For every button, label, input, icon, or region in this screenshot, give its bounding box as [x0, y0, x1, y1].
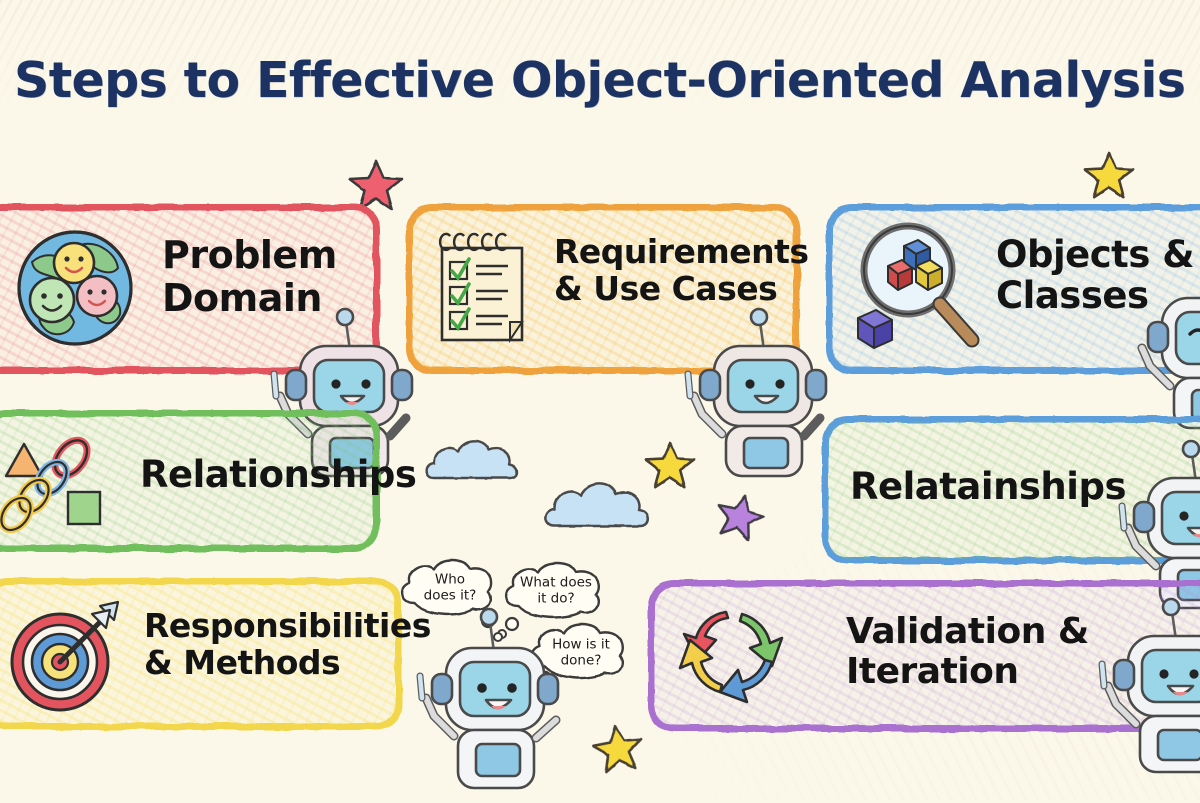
robot-mascot-6 — [1098, 598, 1200, 788]
chain-links-shapes-icon — [0, 436, 120, 536]
star-purple-mid-icon — [710, 487, 770, 546]
thought-bubble-text: What does it do? — [500, 575, 612, 606]
card-responsibilities-methods[interactable]: Responsibilities & Methods — [0, 578, 402, 730]
magnifier-with-cubes-icon — [850, 218, 980, 358]
star-yellow-topright-icon — [1083, 150, 1135, 200]
infographic-canvas: Steps to Effective Object-Oriented Analy… — [0, 0, 1200, 800]
robot-mascot-2 — [660, 292, 820, 472]
page-title: Steps to Effective Object-Oriented Analy… — [14, 52, 1200, 109]
cloud-left-icon — [422, 432, 532, 484]
robot-mascot-5 — [418, 608, 588, 803]
card-label: Responsibilities & Methods — [144, 608, 414, 682]
circular-arrows-cycle-icon — [676, 600, 796, 715]
thought-bubble-text: Who does it? — [396, 572, 504, 603]
card-label: Relatainships — [850, 466, 1150, 507]
target-with-arrow-icon — [4, 600, 124, 715]
star-yellow-bottom-icon — [589, 720, 647, 777]
card-label: Relationships — [140, 454, 400, 495]
card-relationships[interactable]: Relationships — [0, 410, 380, 552]
checklist-notepad-icon — [432, 226, 532, 346]
globe-with-smiley-faces-icon — [12, 222, 138, 352]
